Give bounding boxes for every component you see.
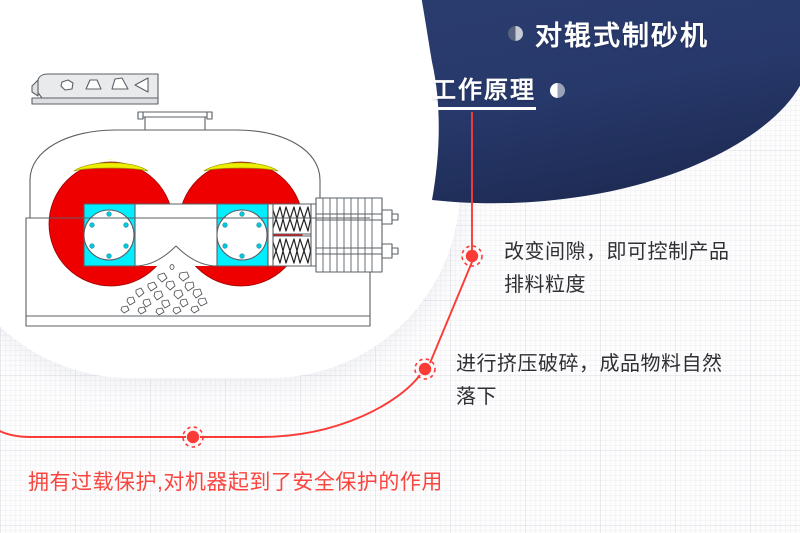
crushing-gap <box>135 204 217 266</box>
callout-text-2: 进行挤压破碎，成品物料自然 落下 <box>456 348 796 414</box>
double-roller-sand-maker-diagram <box>8 68 408 338</box>
rod-nut-upper <box>382 210 398 224</box>
rod-nut-lower <box>382 244 398 258</box>
right-bearing-block <box>217 204 268 266</box>
callout-text-1: 改变间隙，即可控制产品 排料粒度 <box>504 236 794 302</box>
callout-marker-2[interactable] <box>415 359 435 379</box>
tension-rods <box>316 198 398 272</box>
slide-canvas: 对辊式制砂机 工作原理 改变间隙，即可控制产品 排料粒度 进行挤压破碎，成品物料… <box>0 0 800 533</box>
bottom-note-text: 拥有过载保护,对机器起到了安全保护的作用 <box>28 466 443 496</box>
left-bearing-block <box>84 204 135 266</box>
feeder-chute-icon <box>32 74 158 104</box>
